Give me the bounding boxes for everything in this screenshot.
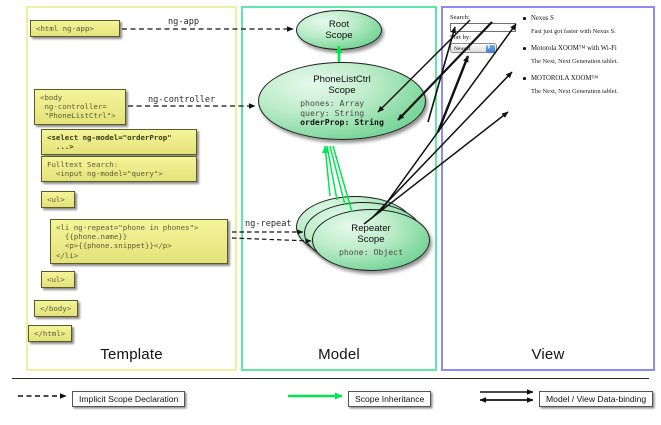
search-input-box: Fulltext Search: <input ng-model="query"… — [41, 156, 197, 182]
panel-model: Model — [241, 6, 437, 371]
root-scope-ellipse: Root Scope — [296, 10, 382, 50]
chevron-updown-icon — [486, 45, 495, 53]
phone-name[interactable]: Nexus S — [522, 14, 650, 23]
body-close-box: </body> — [34, 300, 78, 317]
repeater-scope-props: phone: Object — [339, 248, 403, 258]
legend-implicit-scope-declaration: Implicit Scope Declaration — [72, 391, 185, 407]
phonelistctrl-scope-props: phones: Array query: String orderProp: S… — [300, 99, 384, 128]
legend-divider — [12, 378, 649, 379]
phone-list: Nexus S Fast just got faster with Nexus … — [522, 14, 650, 104]
repeater-scope-ellipse: Repeater Scope phone: Object — [312, 209, 430, 271]
panel-label-template: Template — [28, 346, 235, 363]
select-tag-box: <select ng-model="orderProp" ...> — [41, 129, 197, 155]
phonelistctrl-props-plain: phones: Array query: String — [300, 98, 364, 118]
repeater-scope-title-line1: Repeater — [351, 223, 390, 234]
body-tag-box: <body ng-controller= "PhoneListCtrl"> — [34, 89, 126, 125]
edge-label-ng-repeat: ng-repeat — [245, 219, 292, 229]
ul-open-box: <ul> — [41, 191, 75, 208]
search-input[interactable] — [450, 23, 516, 32]
li-repeat-box: <li ng-repeat="phone in phones"> {{phone… — [50, 219, 228, 264]
panel-label-model: Model — [243, 346, 435, 363]
panel-label-view: View — [443, 346, 653, 363]
html-tag-box: <html ng-app> — [30, 20, 120, 37]
sort-select-value: Newest — [454, 46, 470, 52]
phonelistctrl-scope-title-line2: Scope — [328, 85, 355, 96]
phone-snippet: Fast just got faster with Nexus S. — [522, 27, 650, 36]
repeater-scope-title-line2: Scope — [357, 234, 384, 245]
list-item: Motorola XOOM™ with Wi-Fi The Next, Next… — [522, 44, 650, 66]
sort-select[interactable]: Newest — [450, 43, 497, 53]
phonelistctrl-scope-ellipse: PhoneListCtrl Scope phones: Array query:… — [258, 62, 426, 140]
legend-scope-inheritance: Scope Inheritance — [348, 391, 431, 407]
phone-name[interactable]: Motorola XOOM™ with Wi-Fi — [522, 44, 650, 53]
list-item: Nexus S Fast just got faster with Nexus … — [522, 14, 650, 36]
edge-label-ng-app: ng-app — [168, 17, 199, 27]
list-item: MOTOROLA XOOM™ The Next, Next Generation… — [522, 74, 650, 96]
root-scope-title-line1: Root — [329, 19, 349, 30]
phonelistctrl-props-bold: orderProp: String — [300, 117, 384, 127]
phonelistctrl-scope-title-line1: PhoneListCtrl — [313, 74, 371, 85]
legend-model-view-data-binding: Model / View Data-binding — [539, 391, 653, 407]
html-close-box: </html> — [28, 325, 72, 342]
phone-snippet: The Next, Next Generation tablet. — [522, 87, 650, 96]
phone-snippet: The Next, Next Generation tablet. — [522, 57, 650, 66]
ul-close-box: <ul> — [41, 271, 75, 288]
root-scope-title-line2: Scope — [325, 30, 352, 41]
diagram-canvas: Template Model View <html ng-app> <body … — [0, 0, 661, 425]
edge-label-ng-controller: ng-controller — [148, 95, 215, 105]
phone-name[interactable]: MOTOROLA XOOM™ — [522, 74, 650, 83]
